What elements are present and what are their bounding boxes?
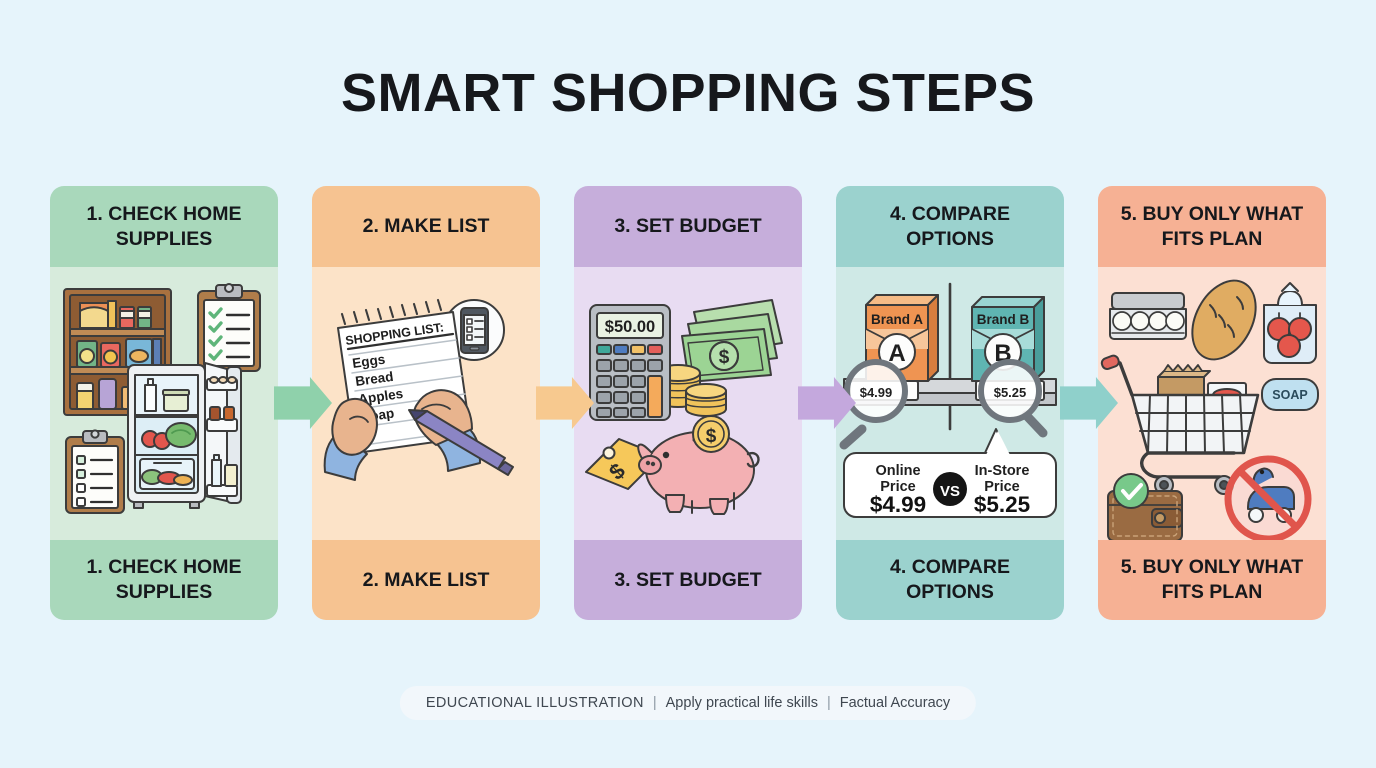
panel-4-header: 4. COMPARE OPTIONS <box>836 186 1064 267</box>
step-panel-5[interactable]: 5. BUY ONLY WHAT FITS PLAN <box>1098 186 1326 620</box>
panel-2-footer: 2. MAKE LIST <box>312 540 540 620</box>
panel-2-header: 2. MAKE LIST <box>312 186 540 267</box>
panel-4-illustration: Brand A A Brand B B <box>836 267 1064 540</box>
instore-price-value: $5.25 <box>974 492 1030 517</box>
banknote-dollar-sign: $ <box>719 347 730 368</box>
panel-3-illustration: $ <box>574 267 802 540</box>
instore-price-label-1: In-Store <box>975 463 1030 479</box>
soap-label: SOAP <box>1272 388 1307 402</box>
brand-a-label: Brand A <box>871 312 923 327</box>
infographic-canvas: SMART SHOPPING STEPS 1. CHECK HOME SUPPL… <box>0 0 1376 768</box>
footer-separator-2: | <box>827 695 831 711</box>
panel-3-footer: 3. SET BUDGET <box>574 540 802 620</box>
step-panel-4[interactable]: 4. COMPARE OPTIONS Brand A <box>836 186 1064 620</box>
step-panel-2[interactable]: 2. MAKE LIST <box>312 186 540 620</box>
brand-b-label: Brand B <box>977 312 1030 327</box>
panel-5-footer: 5. BUY ONLY WHAT FITS PLAN <box>1098 540 1326 620</box>
step-panel-1[interactable]: 1. CHECK HOME SUPPLIES <box>50 186 278 620</box>
online-price-value: $4.99 <box>870 492 926 517</box>
coin-dollar-sign: $ <box>706 426 717 447</box>
footer-separator-1: | <box>653 695 657 711</box>
footer-caps-text: EDUCATIONAL ILLUSTRATION <box>426 695 644 711</box>
footer-caption: EDUCATIONAL ILLUSTRATION | Apply practic… <box>400 686 976 720</box>
footer-middle-text: Apply practical life skills <box>666 695 818 711</box>
calculator-display: $50.00 <box>605 318 655 336</box>
panel-5-illustration: SOAP <box>1098 267 1326 540</box>
panel-1-footer: 1. CHECK HOME SUPPLIES <box>50 540 278 620</box>
brand-b-price-tag: $5.25 <box>994 385 1027 400</box>
panel-1-illustration <box>50 267 278 540</box>
online-price-label-1: Online <box>875 463 920 479</box>
panel-5-header: 5. BUY ONLY WHAT FITS PLAN <box>1098 186 1326 267</box>
panel-3-header: 3. SET BUDGET <box>574 186 802 267</box>
panel-1-header: 1. CHECK HOME SUPPLIES <box>50 186 278 267</box>
panel-4-footer: 4. COMPARE OPTIONS <box>836 540 1064 620</box>
brand-a-price-tag: $4.99 <box>860 385 893 400</box>
step-panel-3[interactable]: 3. SET BUDGET $ <box>574 186 802 620</box>
footer-right-text: Factual Accuracy <box>840 695 950 711</box>
panel-2-illustration: SHOPPING LIST: Eggs Bread Apples Soap <box>312 267 540 540</box>
page-title: SMART SHOPPING STEPS <box>0 62 1376 124</box>
vs-badge: VS <box>940 483 960 500</box>
